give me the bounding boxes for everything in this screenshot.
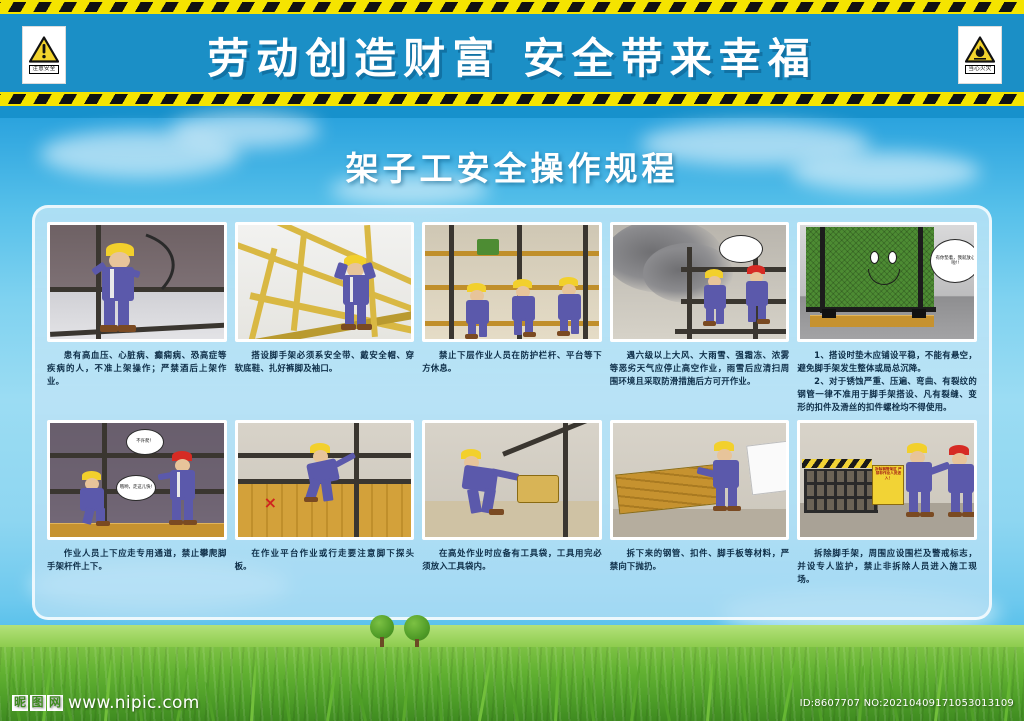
panel-5-caption-line1: 1、搭设时垫木应铺设平稳，不能有悬空，避免脚手架发生整体或局总沉降。 bbox=[797, 349, 977, 375]
panel-7: × 在作业平台作业或行走要注意脚下探头板。 bbox=[235, 420, 415, 616]
panel-5-speech-bubble: 有你垫着，我就放心啦!! bbox=[930, 239, 977, 283]
panel-5-caption-line2: 2、对于锈蚀严重、压遍、弯曲、有裂纹的钢管一律不准用于脚手架搭设、凡有裂缝、变形… bbox=[797, 375, 977, 414]
panel-3-caption: 禁止下层作业人员在防护栏杆、平台等下方休息。 bbox=[422, 349, 602, 375]
panel-1-caption: 患有高血压、心脏病、癫痫病、恐高症等疾病的人，不准上架操作；严禁酒后上架作业。 bbox=[47, 349, 227, 388]
hazard-stripe-bottom bbox=[0, 92, 1024, 106]
tree-left bbox=[370, 615, 394, 649]
tool-bag-icon bbox=[517, 475, 559, 503]
panel-10-caption: 拆除脚手架，周围应设围栏及警戒标志，并设专人监护，禁止非拆除人员进入施工现场。 bbox=[797, 547, 977, 586]
worker-supervisor bbox=[162, 451, 210, 531]
watermark-logo-char-3: 网 bbox=[47, 695, 63, 711]
panel-3: 禁止下层作业人员在防护栏杆、平台等下方休息。 bbox=[422, 222, 602, 418]
panel-2-caption: 搭设脚手架必须系安全带、戴安全帽、穿软底鞋、扎好裤脚及袖口。 bbox=[235, 349, 415, 375]
panel-4-caption: 遇六级以上大风、大雨雪、强霜冻、浓雾等恶劣天气应停止高空作业，雨雪后应清扫周围环… bbox=[610, 349, 790, 388]
panel-4-speech-bubble bbox=[719, 235, 763, 263]
panel-row-bottom: 不许爬！ 哦哟，走这儿快! 作业人员上下应走专用通道，禁止攀爬脚手架杆件上下。 bbox=[47, 420, 977, 616]
panel-1-illustration bbox=[47, 222, 227, 342]
warning-sign-right-label: 当心火灾 bbox=[965, 65, 994, 74]
panel-row-top: 患有高血压、心脏病、癫痫病、恐高症等疾病的人，不准上架操作；严禁酒后上架作业。 bbox=[47, 222, 977, 418]
watermark-logo: 昵 图 网 bbox=[12, 695, 63, 711]
panel-6-illustration: 不许爬！ 哦哟，走这儿快! bbox=[47, 420, 227, 540]
rope-icon bbox=[142, 233, 202, 293]
prohibition-x-mark: × bbox=[264, 495, 277, 511]
panel-10: 拆除钢管架区 严禁非作业人员进入！ bbox=[797, 420, 977, 616]
panel-2: 搭设脚手架必须系安全带、戴安全帽、穿软底鞋、扎好裤脚及袖口。 bbox=[235, 222, 415, 418]
panel-5: 有你垫着，我就放心啦!! 1、搭设时垫木应铺设平稳，不能有悬空，避免脚手架发生整… bbox=[797, 222, 977, 418]
content-panel: 患有高血压、心脏病、癫痫病、恐高症等疾病的人，不准上架操作；严禁酒后上架作业。 bbox=[32, 205, 992, 620]
barrier-tape bbox=[802, 459, 872, 468]
panel-4-illustration bbox=[610, 222, 790, 342]
panel-6-caption: 作业人员上下应走专用通道，禁止攀爬脚手架杆件上下。 bbox=[47, 547, 227, 573]
warning-triangle-icon bbox=[29, 36, 59, 63]
panel-8-illustration bbox=[422, 420, 602, 540]
worker-falling bbox=[296, 441, 366, 505]
image-id-text: ID:8607707 NO:20210409171053013109 bbox=[800, 698, 1014, 709]
panel-9: 拆下来的钢管、扣件、脚手板等材料，严禁向下抛扔。 bbox=[610, 420, 790, 616]
panel-2-illustration bbox=[235, 222, 415, 342]
panel-7-caption: 在作业平台作业或行走要注意脚下探头板。 bbox=[235, 547, 415, 573]
meadow-strip bbox=[0, 625, 1024, 647]
panel-9-illustration bbox=[610, 420, 790, 540]
page-title: 架子工安全操作规程 bbox=[0, 142, 1024, 190]
safety-poster: 注意安全 劳动创造财富 安全带来幸福 当心火灾 架子工安全操作规程 bbox=[0, 0, 1024, 721]
panel-8-caption: 在高处作业时应备有工具袋，工具用完必须放入工具袋内。 bbox=[422, 547, 602, 573]
panel-4: 遇六级以上大风、大雨雪、强霜冻、浓雾等恶劣天气应停止高空作业，雨雪后应清扫周围环… bbox=[610, 222, 790, 418]
panel-8: 在高处作业时应备有工具袋，工具用完必须放入工具袋内。 bbox=[422, 420, 602, 616]
hazard-stripe-top bbox=[0, 0, 1024, 14]
notice-sheet bbox=[746, 441, 789, 496]
site-watermark: 昵 图 网 www.nipic.com bbox=[12, 693, 200, 713]
green-netting bbox=[806, 227, 934, 307]
header-title: 劳动创造财富 安全带来幸福 bbox=[66, 25, 958, 86]
tree-right bbox=[404, 615, 430, 651]
panel-1: 患有高血压、心脏病、癫痫病、恐高症等疾病的人，不准上架操作；严禁酒后上架作业。 bbox=[47, 222, 227, 418]
warning-sign-left: 注意安全 bbox=[22, 26, 66, 84]
panel-10-illustration: 拆除钢管架区 严禁非作业人员进入！ bbox=[797, 420, 977, 540]
panel-7-illustration: × bbox=[235, 420, 415, 540]
panel-5-illustration: 有你垫着，我就放心啦!! bbox=[797, 222, 977, 342]
panel-6-speech-bubble-bottom: 哦哟，走这儿快! bbox=[116, 475, 156, 501]
panel-9-caption: 拆下来的钢管、扣件、脚手板等材料，严禁向下抛扔。 bbox=[610, 547, 790, 573]
panel-6-speech-bubble-top: 不许爬！ bbox=[126, 429, 164, 455]
fire-warning-icon bbox=[965, 36, 995, 63]
header-band: 注意安全 劳动创造财富 安全带来幸福 当心火灾 bbox=[0, 18, 1024, 92]
watermark-logo-char-2: 图 bbox=[30, 695, 46, 711]
watermark-url: www.nipic.com bbox=[68, 693, 200, 713]
watermark-logo-char-1: 昵 bbox=[12, 695, 28, 711]
panel-6: 不许爬！ 哦哟，走这儿快! 作业人员上下应走专用通道，禁止攀爬脚手架杆件上下。 bbox=[47, 420, 227, 616]
panel-3-illustration bbox=[422, 222, 602, 342]
worker-climbing bbox=[74, 471, 120, 529]
warning-sign-left-label: 注意安全 bbox=[29, 65, 58, 74]
warning-sign-right: 当心火灾 bbox=[958, 26, 1002, 84]
